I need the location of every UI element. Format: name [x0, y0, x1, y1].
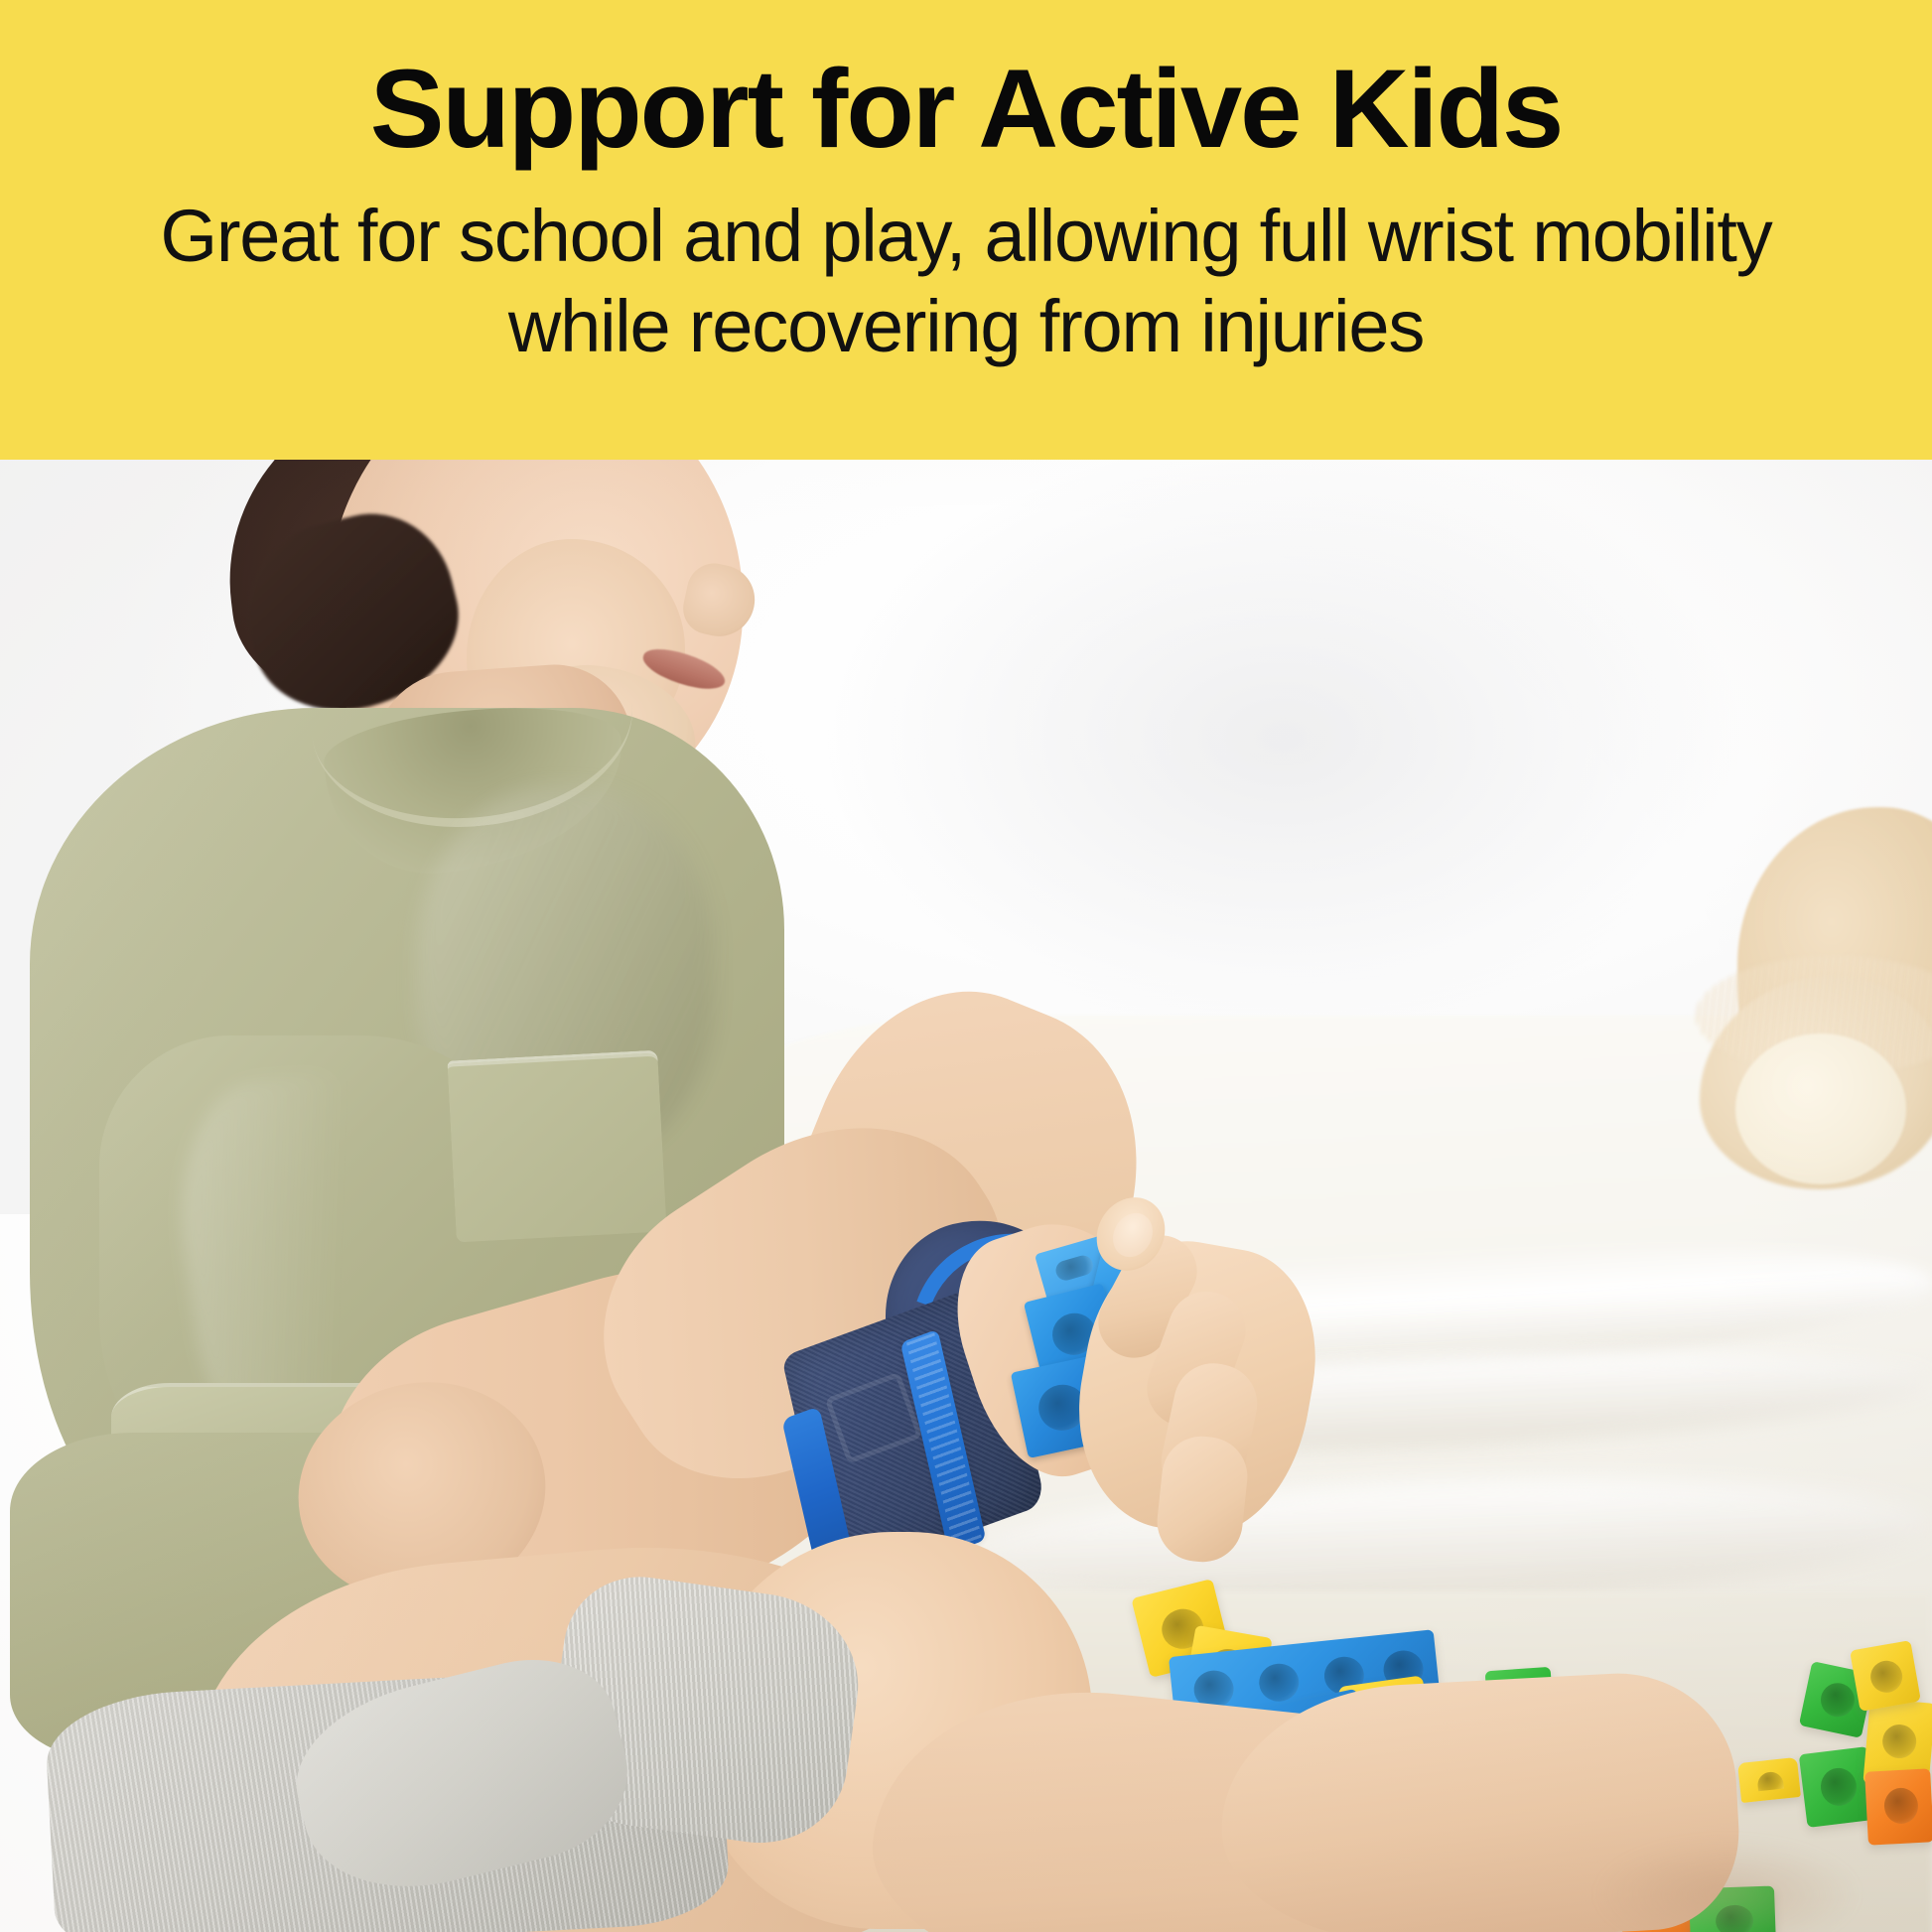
- headline-banner: Support for Active Kids Great for school…: [0, 0, 1932, 460]
- foot-shadow: [1598, 1840, 1857, 1932]
- teddy-bear: [1678, 807, 1932, 1204]
- toy-cube: [1737, 1757, 1801, 1803]
- teddy-bear-paw-pad: [1735, 1034, 1906, 1184]
- banner-title: Support for Active Kids: [370, 54, 1563, 165]
- product-lifestyle-image: Support for Active Kids Great for school…: [0, 0, 1932, 1932]
- banner-subtitle: Great for school and play, allowing full…: [122, 191, 1810, 371]
- lifestyle-photo: [0, 460, 1932, 1932]
- toy-cube: [1850, 1640, 1921, 1712]
- tshirt-chest-pocket: [447, 1050, 666, 1243]
- toy-cube: [1864, 1768, 1932, 1845]
